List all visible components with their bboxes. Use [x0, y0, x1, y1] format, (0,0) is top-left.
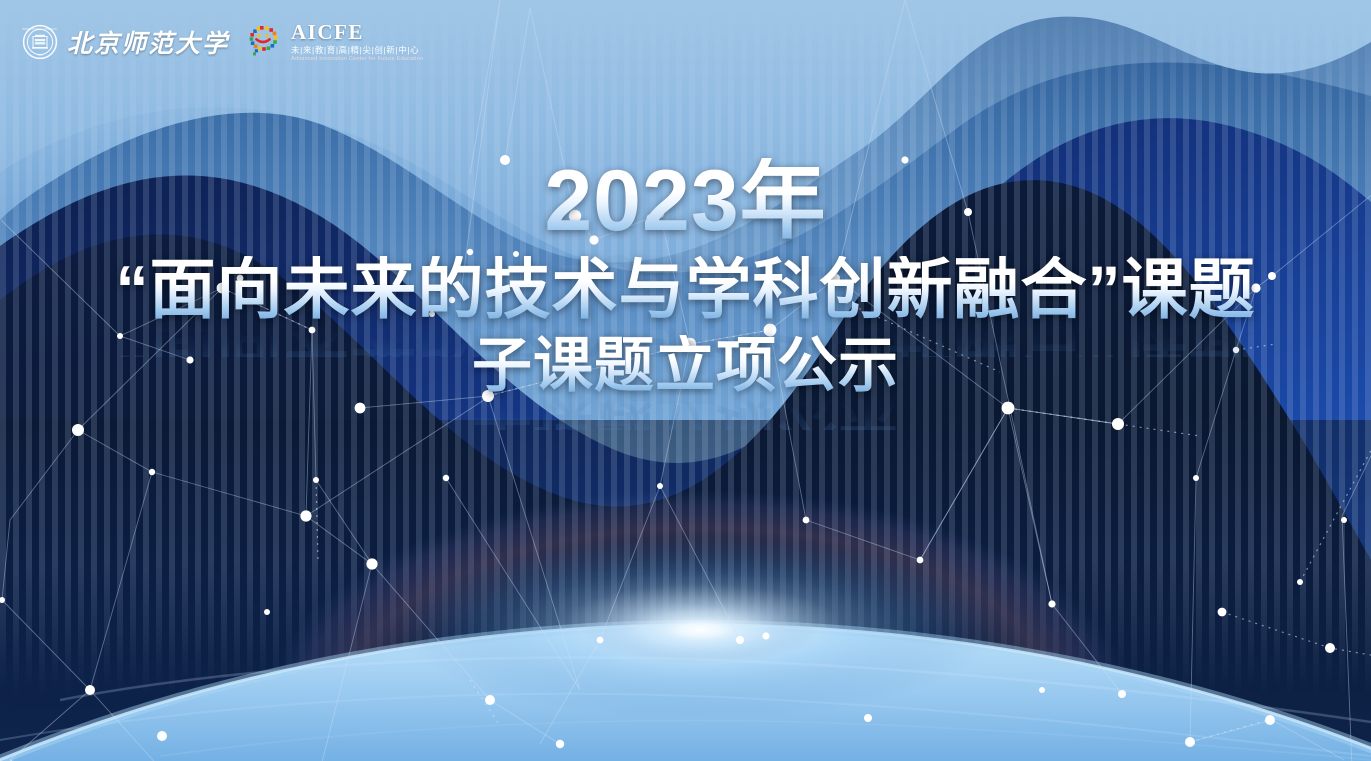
aicfe-acronym: AICFE	[291, 22, 423, 43]
svg-text:BEIJING NORMAL UNIVERSITY: BEIJING NORMAL UNIVERSITY	[23, 28, 58, 31]
poster-canvas: BEIJING NORMAL UNIVERSITY 1902 北京师范大学	[0, 0, 1371, 761]
aicfe-name-en: Advanced Innovation Center for Future Ed…	[291, 57, 423, 63]
horizon-glow-core	[580, 596, 820, 664]
svg-text:1902: 1902	[37, 54, 44, 57]
brand-bar: BEIJING NORMAL UNIVERSITY 1902 北京师范大学	[22, 22, 423, 62]
earth-and-network	[0, 0, 1371, 761]
bnu-name-label: 北京师范大学	[67, 24, 229, 60]
aicfe-speech-bubble-icon	[243, 22, 283, 62]
bnu-logo: BEIJING NORMAL UNIVERSITY 1902 北京师范大学	[22, 24, 229, 60]
aicfe-name-cn: 未|来|教|育|高|精|尖|创|新|中|心	[291, 46, 423, 55]
aicfe-logo: AICFE 未|来|教|育|高|精|尖|创|新|中|心 Advanced Inn…	[243, 22, 423, 62]
aicfe-text-block: AICFE 未|来|教|育|高|精|尖|创|新|中|心 Advanced Inn…	[291, 22, 423, 62]
bnu-seal-icon: BEIJING NORMAL UNIVERSITY 1902	[22, 24, 58, 60]
